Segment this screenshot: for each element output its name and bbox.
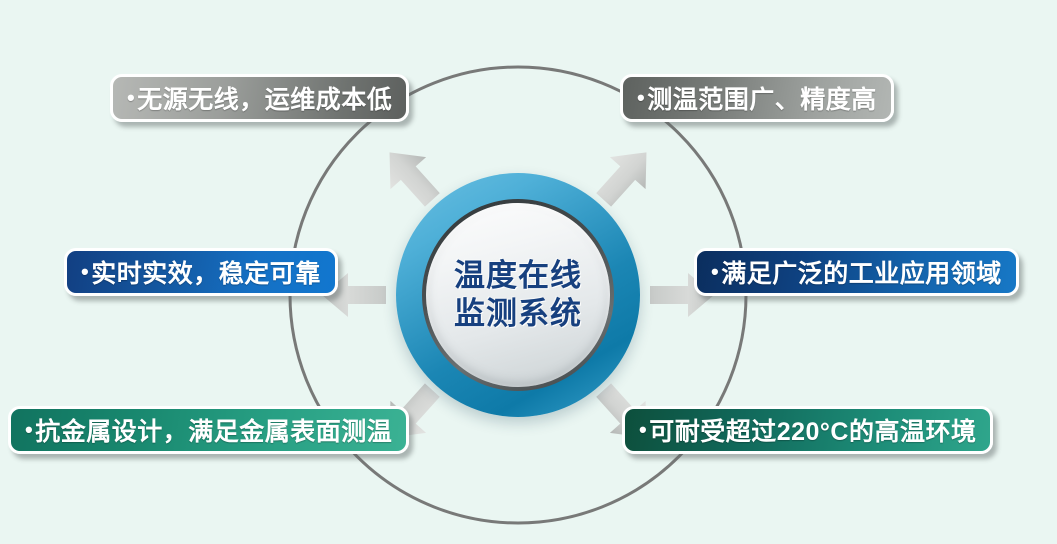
callout-bottom-left-label: 抗金属设计，满足金属表面测温 <box>35 412 392 448</box>
bullet-icon: • <box>127 87 135 109</box>
callout-bottom-right-label: 可耐受超过220°C的高温环境 <box>649 412 976 448</box>
callout-top-right[interactable]: • 测温范围广、精度高 <box>620 74 894 122</box>
bullet-icon: • <box>639 419 647 441</box>
callout-middle-left[interactable]: • 实时实效，稳定可靠 <box>64 248 338 296</box>
callout-top-left-label: 无源无线，运维成本低 <box>137 80 392 116</box>
hub-title: 温度在线 监测系统 <box>454 257 582 333</box>
bullet-icon: • <box>25 419 33 441</box>
callout-top-left[interactable]: • 无源无线，运维成本低 <box>110 74 409 122</box>
bullet-icon: • <box>711 261 719 283</box>
bullet-icon: • <box>81 261 89 283</box>
diagram-canvas: 温度在线 监测系统 • 无源无线，运维成本低 • 测温范围广、精度高 • 实时实… <box>0 0 1057 544</box>
center-hub: 温度在线 监测系统 <box>396 173 640 417</box>
callout-middle-left-label: 实时实效，稳定可靠 <box>91 254 321 290</box>
callout-bottom-left[interactable]: • 抗金属设计，满足金属表面测温 <box>8 406 409 454</box>
callout-top-right-label: 测温范围广、精度高 <box>647 80 877 116</box>
hub-face: 温度在线 监测系统 <box>426 203 610 387</box>
callout-middle-right[interactable]: • 满足广泛的工业应用领域 <box>694 248 1019 296</box>
hub-bezel: 温度在线 监测系统 <box>422 199 614 391</box>
callout-bottom-right[interactable]: • 可耐受超过220°C的高温环境 <box>622 406 993 454</box>
bullet-icon: • <box>637 87 645 109</box>
callout-middle-right-label: 满足广泛的工业应用领域 <box>721 254 1002 290</box>
